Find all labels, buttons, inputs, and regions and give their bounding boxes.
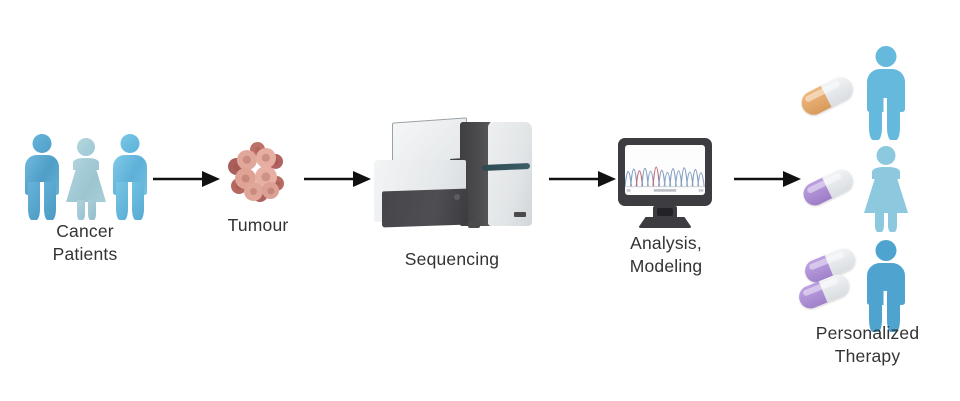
tumour-cell bbox=[237, 150, 257, 170]
figure-head-icon bbox=[876, 240, 897, 261]
figure-leg-left-icon bbox=[875, 211, 884, 232]
workflow-diagram: Cancer Patients Tumour bbox=[0, 0, 960, 401]
label-analysis-modeling: Analysis, Modeling bbox=[600, 232, 732, 278]
patient-figure-male-1 bbox=[22, 134, 62, 220]
therapy-capsule-orange bbox=[797, 73, 856, 119]
step-tumour bbox=[226, 142, 290, 204]
figure-head-icon bbox=[876, 46, 897, 67]
patient-figure-male-2 bbox=[110, 134, 150, 220]
figure-head-icon bbox=[877, 146, 896, 165]
sequencer-right-panel bbox=[488, 122, 532, 226]
figure-leg-left-icon bbox=[869, 98, 882, 140]
therapy-capsule-purple-1 bbox=[800, 166, 857, 209]
figure-leg-left-icon bbox=[77, 200, 85, 220]
arrow-sequencing-to-analysis bbox=[548, 168, 618, 190]
figure-dress-icon bbox=[66, 162, 106, 202]
patient-figure-female bbox=[66, 138, 106, 220]
figure-head-icon bbox=[33, 134, 52, 153]
arrow-tumour-to-sequencing bbox=[303, 168, 373, 190]
figure-leg-right-icon bbox=[44, 182, 56, 220]
monitor-base bbox=[638, 217, 692, 228]
step-sequencing bbox=[372, 118, 532, 228]
tumour-cell bbox=[256, 148, 276, 168]
step-cancer-patients bbox=[20, 120, 150, 220]
label-sequencing: Sequencing bbox=[382, 248, 522, 271]
sequencer-drawer-knob bbox=[454, 194, 460, 200]
therapy-figure-male-1 bbox=[862, 46, 910, 140]
figure-head-icon bbox=[77, 138, 95, 156]
figure-leg-right-icon bbox=[88, 200, 96, 220]
step-analysis-modeling bbox=[612, 138, 718, 224]
figure-leg-right-icon bbox=[887, 98, 900, 140]
figure-leg-right-icon bbox=[132, 182, 144, 220]
step-personalized-therapy bbox=[790, 28, 940, 318]
label-tumour: Tumour bbox=[198, 214, 318, 237]
label-cancer-patients: Cancer Patients bbox=[15, 220, 155, 266]
monitor-neck-inset bbox=[657, 208, 673, 216]
monitor-screen bbox=[625, 145, 705, 195]
label-personalized-therapy: Personalized Therapy bbox=[790, 322, 945, 368]
sequencer-foot bbox=[468, 222, 480, 228]
tumour-cell bbox=[244, 182, 263, 201]
tumour-cell bbox=[262, 182, 279, 199]
figure-leg-left-icon bbox=[28, 182, 40, 220]
therapy-figure-male-2 bbox=[862, 240, 910, 332]
sequencer-logo-badge bbox=[514, 212, 526, 217]
chromatogram-chart bbox=[625, 145, 705, 195]
figure-leg-right-icon bbox=[888, 211, 897, 232]
figure-dress-icon bbox=[864, 171, 908, 213]
therapy-figure-female bbox=[862, 146, 910, 232]
arrow-patients-to-tumour bbox=[152, 168, 222, 190]
figure-head-icon bbox=[121, 134, 140, 153]
figure-leg-left-icon bbox=[116, 182, 128, 220]
